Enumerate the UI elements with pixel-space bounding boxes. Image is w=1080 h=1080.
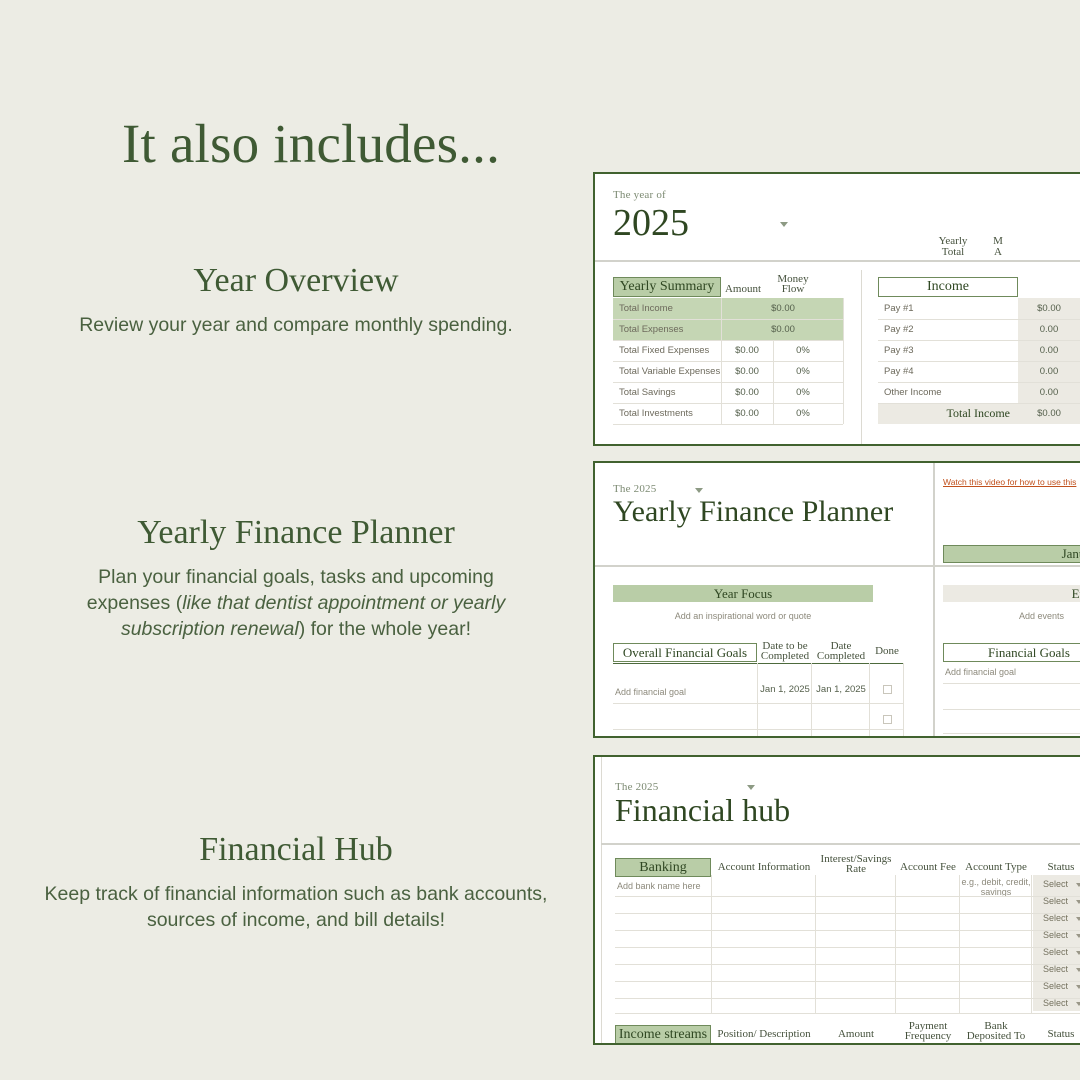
income-row-value: 0.00 xyxy=(1018,340,1080,361)
slide-canvas: It also includes... Year Overview Review… xyxy=(0,0,1080,1080)
summary-row-amount: $0.00 xyxy=(723,382,771,403)
col-status: Status xyxy=(1033,861,1080,875)
watch-video-link[interactable]: Watch this video for how to use this xyxy=(943,477,1076,487)
planner-eyebrow-label: The 2025 xyxy=(613,483,656,495)
year-eyebrow-label: The year of xyxy=(613,189,666,201)
col-money-flow-line2: Flow xyxy=(767,284,819,295)
summary-row-flow: 0% xyxy=(775,382,831,403)
col-account-fee: Account Fee xyxy=(897,861,959,875)
overall-financial-goals-header: Overall Financial Goals xyxy=(613,643,757,662)
chevron-down-icon xyxy=(1076,917,1080,921)
feature-description: Keep track of financial information such… xyxy=(0,882,592,933)
desc-text-tail: ) for the whole year! xyxy=(299,618,471,640)
col-interest-rate-line2: Rate xyxy=(817,864,895,875)
status-select-value: Select xyxy=(1043,896,1068,906)
financial-goals-header: Financial Goals xyxy=(943,643,1080,662)
goal-date-completed[interactable]: Jan 1, 2025 xyxy=(813,679,869,699)
chevron-down-icon xyxy=(1076,934,1080,938)
goal-done-checkbox[interactable] xyxy=(883,737,892,738)
status-select[interactable]: Select xyxy=(1033,977,1080,994)
header-divider xyxy=(595,260,1080,262)
hub-title: Financial hub xyxy=(615,794,790,828)
summary-row-amount: $0.00 xyxy=(723,403,771,424)
col-yearly-total-line2: Total xyxy=(931,247,975,259)
summary-row-label: Total Investments xyxy=(613,403,723,424)
chevron-down-icon xyxy=(1076,900,1080,904)
summary-row-label: Total Fixed Expenses xyxy=(613,340,723,361)
feature-yearly-finance-planner: Yearly Finance Planner Plan your financi… xyxy=(0,514,592,643)
feature-financial-hub: Financial Hub Keep track of financial in… xyxy=(0,831,592,934)
summary-row-amount: $0.00 xyxy=(723,340,771,361)
account-type-hint-line1: e.g., debit, credit, xyxy=(961,877,1031,887)
status-select[interactable]: Select xyxy=(1033,875,1080,892)
feature-title: Financial Hub xyxy=(0,831,592,868)
summary-row-amount: $0.00 xyxy=(723,319,843,340)
status-select[interactable]: Select xyxy=(1033,892,1080,909)
feature-description: Review your year and compare monthly spe… xyxy=(0,313,592,339)
income-row-value: 0.00 xyxy=(1018,361,1080,382)
income-total-value: $0.00 xyxy=(1018,403,1080,424)
col-status: Status xyxy=(1033,1028,1080,1042)
status-select-value: Select xyxy=(1043,947,1068,957)
year-focus-placeholder[interactable]: Add an inspirational word or quote xyxy=(613,611,873,621)
chevron-down-icon xyxy=(1076,968,1080,972)
col-done: Done xyxy=(871,646,903,658)
financial-goals-placeholder[interactable]: Add financial goal xyxy=(945,667,1016,677)
left-content-column: It also includes... Year Overview Review… xyxy=(0,0,592,1080)
status-select[interactable]: Select xyxy=(1033,909,1080,926)
income-row-label: Pay #4 xyxy=(878,361,1008,382)
col-amount: Amount xyxy=(817,1028,895,1042)
income-row-label: Pay #2 xyxy=(878,319,1008,340)
spreadsheet-yearly-planner: The 2025 Yearly Finance Planner Watch th… xyxy=(595,463,1080,736)
income-row-value: 0.00 xyxy=(1018,319,1080,340)
feature-description: Plan your financial goals, tasks and upc… xyxy=(0,565,592,642)
income-streams-header: Income streams xyxy=(615,1025,711,1044)
banking-header: Banking xyxy=(615,858,711,877)
year-focus-header: Year Focus xyxy=(613,585,873,602)
goal-done-checkbox[interactable] xyxy=(883,685,892,694)
status-select[interactable]: Select xyxy=(1033,943,1080,960)
chevron-down-icon[interactable] xyxy=(695,488,703,493)
events-placeholder[interactable]: Add events xyxy=(1019,611,1064,621)
status-select-value: Select xyxy=(1043,930,1068,940)
year-value: 2025 xyxy=(613,204,689,242)
status-select[interactable]: Select xyxy=(1033,994,1080,1011)
col-date-completed-line2: Completed xyxy=(813,651,869,662)
chevron-down-icon xyxy=(1076,985,1080,989)
col-date-to-be-line2: Completed xyxy=(759,651,811,662)
summary-row-label: Total Expenses xyxy=(613,319,721,340)
summary-row-label: Total Income xyxy=(613,298,721,319)
income-row-label: Pay #1 xyxy=(878,298,1008,319)
events-header: Events xyxy=(943,585,1080,602)
summary-row-label: Total Savings xyxy=(613,382,723,403)
chevron-down-icon[interactable] xyxy=(747,785,755,790)
yearly-summary-header: Yearly Summary xyxy=(613,277,721,297)
goal-done-checkbox[interactable] xyxy=(883,715,892,724)
summary-row-flow: 0% xyxy=(775,403,831,424)
feature-year-overview: Year Overview Review your year and compa… xyxy=(0,262,592,339)
status-select-value: Select xyxy=(1043,879,1068,889)
planner-title: Yearly Finance Planner xyxy=(613,496,893,528)
income-row-value: 0.00 xyxy=(1018,382,1080,403)
chevron-down-icon xyxy=(1076,951,1080,955)
month-tab-january[interactable]: January xyxy=(943,545,1080,563)
income-total-label: Total Income xyxy=(878,403,1018,424)
col-account-information: Account Information xyxy=(713,861,815,875)
col-payment-frequency-line2: Frequency xyxy=(897,1031,959,1042)
income-header: Income xyxy=(878,277,1018,297)
summary-row-amount: $0.00 xyxy=(723,361,771,382)
status-select[interactable]: Select xyxy=(1033,960,1080,977)
col-cut-line2: A xyxy=(987,247,1009,259)
income-row-label: Pay #3 xyxy=(878,340,1008,361)
spreadsheet-financial-hub: The 2025 Financial hub Banking Account I… xyxy=(595,757,1080,1043)
summary-row-label: Total Variable Expenses xyxy=(613,361,723,382)
summary-row-amount: $0.00 xyxy=(723,298,843,319)
col-account-type: Account Type xyxy=(961,861,1031,875)
col-position-description: Position/ Description xyxy=(713,1028,815,1042)
status-select-value: Select xyxy=(1043,913,1068,923)
status-select-value: Select xyxy=(1043,964,1068,974)
status-select-value: Select xyxy=(1043,998,1068,1008)
feature-title: Yearly Finance Planner xyxy=(0,514,592,551)
summary-row-flow: 0% xyxy=(775,361,831,382)
screenshot-yearly-finance-planner[interactable]: The 2025 Yearly Finance Planner Watch th… xyxy=(593,461,1080,738)
income-row-label: Other Income xyxy=(878,382,1008,403)
income-row-value: $0.00 xyxy=(1018,298,1080,319)
summary-row-flow: 0% xyxy=(775,340,831,361)
bank-name-placeholder[interactable]: Add bank name here xyxy=(617,881,701,891)
goal-date-to-be[interactable]: Jan 1, 2025 xyxy=(759,679,811,699)
chevron-down-icon[interactable] xyxy=(780,222,788,227)
feature-title: Year Overview xyxy=(0,262,592,299)
screenshot-year-overview[interactable]: The year of 2025 Yearly Total M A Yearly… xyxy=(593,172,1080,446)
screenshot-financial-hub[interactable]: The 2025 Financial hub Banking Account I… xyxy=(593,755,1080,1045)
spreadsheet-year-overview: The year of 2025 Yearly Total M A Yearly… xyxy=(595,174,1080,444)
page-title: It also includes... xyxy=(122,112,500,175)
status-select-value: Select xyxy=(1043,981,1068,991)
goal-placeholder[interactable]: Add financial goal xyxy=(615,687,686,697)
col-bank-deposited-line2: Deposited To xyxy=(961,1031,1031,1042)
chevron-down-icon xyxy=(1076,1002,1080,1006)
chevron-down-icon xyxy=(1076,883,1080,887)
col-amount: Amount xyxy=(723,283,763,297)
status-select[interactable]: Select xyxy=(1033,926,1080,943)
